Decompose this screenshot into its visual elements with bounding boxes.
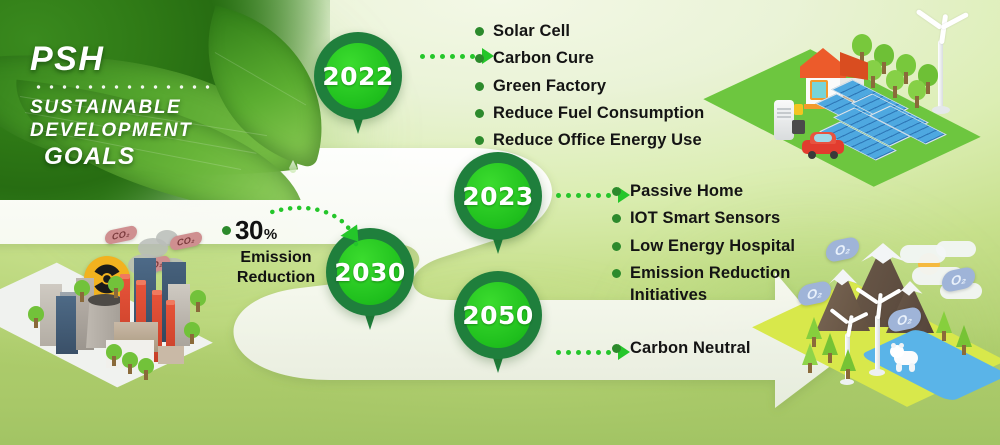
industrial-city-illustration: CO₂ CO₂ CO₂ — [10, 218, 230, 388]
arrow-dot — [556, 350, 561, 355]
bullet-icon — [475, 54, 484, 63]
arrow-dot — [586, 350, 591, 355]
list-item-label: Green Factory — [493, 75, 606, 97]
turbine-blade — [915, 9, 942, 30]
wind-turbine — [922, 20, 962, 110]
list-item: Passive Home — [612, 180, 795, 202]
turbine-mast — [938, 40, 943, 112]
arrow-dot — [566, 350, 571, 355]
cloud-icon — [936, 241, 976, 257]
emission-reduction-callout: 30 % Emission Reduction — [222, 215, 332, 288]
list-item-label: Emission Reduction Initiatives — [630, 262, 790, 307]
turbine-base — [869, 369, 885, 376]
milestone-pin-2023[interactable]: 2023 — [454, 152, 542, 256]
list-item: IOT Smart Sensors — [612, 207, 795, 229]
list-item: Green Factory — [475, 75, 704, 97]
arrow-dot — [596, 193, 601, 198]
pin-year-label: 2023 — [454, 152, 542, 240]
arrow-dot — [576, 350, 581, 355]
list-item-label: Reduce Office Energy Use — [493, 129, 702, 151]
title-dotted-divider — [32, 85, 214, 89]
bullet-icon — [612, 269, 621, 278]
bullet-icon — [612, 344, 621, 353]
arrow-dot — [566, 193, 571, 198]
carbon-neutral-illustration: O₂ O₂ O₂ O₂ — [790, 225, 1000, 415]
arrow-dot — [420, 54, 425, 59]
subtitle-line-3: GOALS — [44, 143, 214, 171]
bullet-icon — [612, 242, 621, 251]
milestone-list-2023: Passive Home IOT Smart Sensors Low Energ… — [612, 180, 795, 311]
callout-number: 30 — [235, 215, 263, 246]
list-item: Low Energy Hospital — [612, 235, 795, 257]
arrow-dot — [460, 54, 465, 59]
o2-badge: O₂ — [826, 235, 859, 263]
arrow-dot — [440, 54, 445, 59]
list-item-label: Low Energy Hospital — [630, 235, 795, 257]
turbine-mast — [875, 315, 880, 373]
list-item-label: Solar Cell — [493, 20, 570, 42]
list-item-label: Passive Home — [630, 180, 743, 202]
pin-year-label: 2022 — [314, 32, 402, 120]
milestone-pin-2050[interactable]: 2050 — [454, 271, 542, 375]
bullet-icon — [222, 226, 231, 235]
turbine-base — [932, 106, 950, 114]
arrow-dot — [556, 193, 561, 198]
curved-arrow-head-icon — [340, 223, 362, 248]
car-window — [814, 134, 832, 142]
list-item-label: Reduce Fuel Consumption — [493, 102, 704, 124]
list-item: Carbon Cure — [475, 47, 704, 69]
co2-badge: CO₂ — [105, 225, 137, 246]
list-item-label: Carbon Cure — [493, 47, 594, 69]
list-item-label: Carbon Neutral — [630, 337, 751, 359]
list-item: Reduce Fuel Consumption — [475, 102, 704, 124]
bullet-icon — [475, 27, 484, 36]
callout-caption: Emission Reduction — [222, 248, 332, 288]
green-village-illustration — [740, 8, 992, 188]
arrow-dot — [430, 54, 435, 59]
callout-percent-symbol: % — [264, 226, 277, 243]
arrow-dot — [586, 193, 591, 198]
factory-annex — [158, 346, 184, 364]
bear-ear — [899, 343, 904, 348]
list-item-label: IOT Smart Sensors — [630, 207, 780, 229]
charger-bolt-icon — [794, 104, 803, 115]
ev-charger — [774, 100, 794, 140]
callout-headline: 30 % — [222, 215, 332, 246]
bullet-icon — [612, 214, 621, 223]
infographic-canvas: PSH SUSTAINABLE DEVELOPMENT GOALS CO₂ CO… — [0, 0, 1000, 445]
turbine-base — [840, 379, 854, 385]
bullet-icon — [475, 82, 484, 91]
list-item: Emission Reduction Initiatives — [612, 262, 795, 307]
house-window — [810, 80, 828, 100]
subtitle-line-2: DEVELOPMENT — [30, 119, 214, 142]
bullet-icon — [612, 187, 621, 196]
arrow-dot — [606, 193, 611, 198]
arrow-dot — [606, 350, 611, 355]
bear-ear — [891, 343, 896, 348]
charger-vents — [777, 108, 791, 120]
subtitle-line-1: SUSTAINABLE — [30, 96, 214, 119]
office-building — [56, 296, 78, 354]
list-item: Solar Cell — [475, 20, 704, 42]
list-item: Reduce Office Energy Use — [475, 129, 704, 151]
bear-leg — [896, 363, 902, 372]
arrow-dot — [450, 54, 455, 59]
bear-leg — [909, 363, 915, 372]
car-wheel — [830, 151, 838, 159]
milestone-pin-2022[interactable]: 2022 — [314, 32, 402, 136]
brand-title: PSH — [30, 42, 214, 76]
electric-car — [802, 132, 846, 158]
car-wheel — [808, 151, 816, 159]
pin-year-label: 2050 — [454, 271, 542, 359]
turbine-blade — [876, 293, 883, 319]
bullet-icon — [475, 109, 484, 118]
list-item: Carbon Neutral — [612, 337, 751, 359]
milestone-list-2050: Carbon Neutral — [612, 337, 751, 364]
title-block: PSH SUSTAINABLE DEVELOPMENT GOALS — [30, 42, 214, 171]
bullet-icon — [475, 136, 484, 145]
milestone-list-2022: Solar Cell Carbon Cure Green Factory Red… — [475, 20, 704, 156]
polar-bear-icon — [890, 343, 924, 373]
arrow-dot — [576, 193, 581, 198]
arrow-dot — [596, 350, 601, 355]
